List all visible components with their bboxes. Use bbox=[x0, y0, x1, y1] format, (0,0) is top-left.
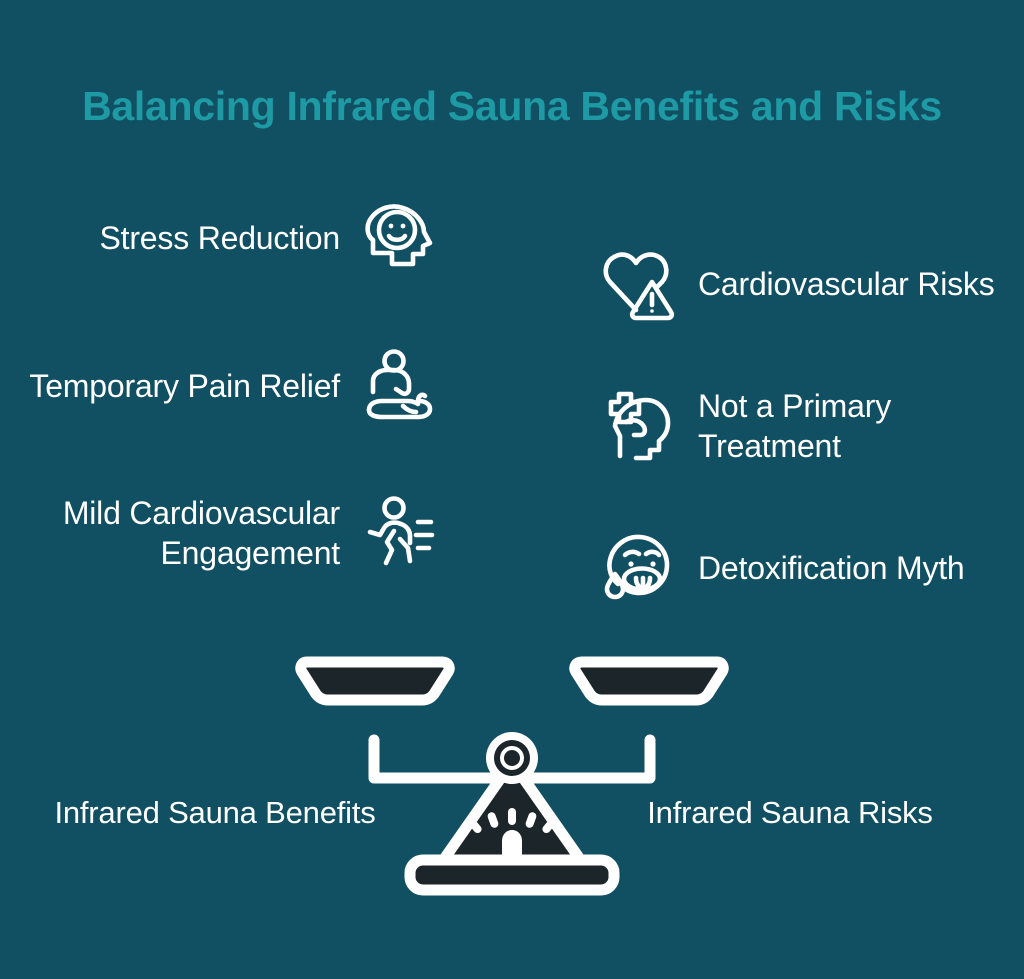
balance-scale-icon bbox=[282, 640, 742, 910]
running-person-icon bbox=[356, 491, 440, 575]
infographic-canvas: Balancing Infrared Sauna Benefits and Ri… bbox=[0, 0, 1024, 979]
benefit-label: Mild Cardiovascular Engagement bbox=[28, 493, 356, 574]
benefit-item-cardio-engagement: Mild Cardiovascular Engagement bbox=[28, 491, 440, 575]
risks-heading: Infrared Sauna Risks bbox=[600, 793, 980, 833]
sweating-sick-face-icon bbox=[598, 526, 682, 610]
risks-pan bbox=[575, 662, 723, 700]
benefits-pan bbox=[301, 662, 449, 700]
risk-item-not-primary-treatment: Not a Primary Treatment bbox=[598, 384, 1008, 468]
massage-therapy-icon bbox=[356, 344, 440, 428]
benefit-item-pain-relief: Temporary Pain Relief bbox=[28, 344, 440, 428]
benefit-item-stress-reduction: Stress Reduction bbox=[28, 196, 440, 280]
risk-label: Detoxification Myth bbox=[682, 548, 965, 588]
risk-label: Not a Primary Treatment bbox=[682, 386, 1008, 467]
heart-warning-icon bbox=[598, 242, 682, 326]
risk-item-detox-myth: Detoxification Myth bbox=[598, 526, 1008, 610]
benefits-heading: Infrared Sauna Benefits bbox=[40, 793, 390, 833]
head-smiley-icon bbox=[356, 196, 440, 280]
head-medical-cross-icon bbox=[598, 384, 682, 468]
benefit-label: Stress Reduction bbox=[100, 218, 356, 258]
page-title: Balancing Infrared Sauna Benefits and Ri… bbox=[0, 82, 1024, 131]
risk-label: Cardiovascular Risks bbox=[682, 264, 995, 304]
benefit-label: Temporary Pain Relief bbox=[29, 366, 356, 406]
risk-item-cardiovascular-risks: Cardiovascular Risks bbox=[598, 242, 1008, 326]
